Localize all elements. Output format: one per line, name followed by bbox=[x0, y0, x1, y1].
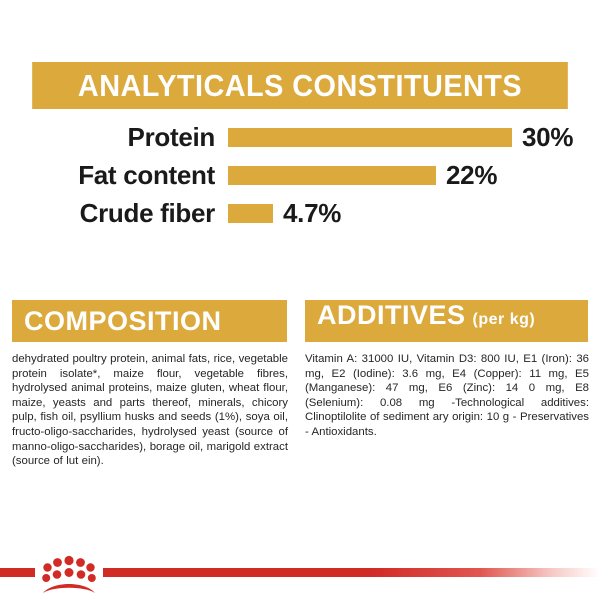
composition-banner-title: COMPOSITION bbox=[24, 306, 222, 337]
chart-bar-wrap-protein: 30% bbox=[228, 122, 600, 153]
analyticals-banner-title: ANALYTICALS CONSTITUENTS bbox=[78, 68, 522, 104]
chart-value-fat-content: 22% bbox=[446, 160, 497, 191]
additives-banner: ADDITIVES (per kg) bbox=[305, 300, 588, 342]
chart-bar-wrap-fat-content: 22% bbox=[228, 160, 600, 191]
crown-icon bbox=[37, 552, 101, 596]
chart-label-crude-fiber: Crude fiber bbox=[0, 198, 215, 229]
additives-banner-subtitle: (per kg) bbox=[473, 311, 536, 329]
chart-bar-fat-content bbox=[228, 166, 436, 185]
additives-banner-title: ADDITIVES bbox=[317, 300, 466, 331]
analyticals-bar-chart: Protein 30% Fat content 22% Crude fiber … bbox=[0, 118, 600, 232]
brand-logo bbox=[35, 548, 103, 600]
additives-body-text: Vitamin A: 31000 IU, Vitamin D3: 800 IU,… bbox=[305, 352, 589, 440]
chart-bar-wrap-crude-fiber: 4.7% bbox=[228, 198, 600, 229]
chart-bar-crude-fiber bbox=[228, 204, 273, 223]
chart-value-crude-fiber: 4.7% bbox=[283, 198, 341, 229]
chart-bar-protein bbox=[228, 128, 512, 147]
chart-row-protein: Protein 30% bbox=[0, 118, 600, 156]
analyticals-constituents-banner: ANALYTICALS CONSTITUENTS bbox=[32, 62, 568, 109]
chart-row-crude-fiber: Crude fiber 4.7% bbox=[0, 194, 600, 232]
chart-label-protein: Protein bbox=[0, 122, 215, 153]
chart-value-protein: 30% bbox=[522, 122, 573, 153]
composition-banner: COMPOSITION bbox=[12, 300, 287, 342]
chart-label-fat-content: Fat content bbox=[0, 160, 215, 191]
footer bbox=[0, 560, 600, 600]
chart-row-fat-content: Fat content 22% bbox=[0, 156, 600, 194]
composition-body-text: dehydrated poultry protein, animal fats,… bbox=[12, 352, 288, 469]
